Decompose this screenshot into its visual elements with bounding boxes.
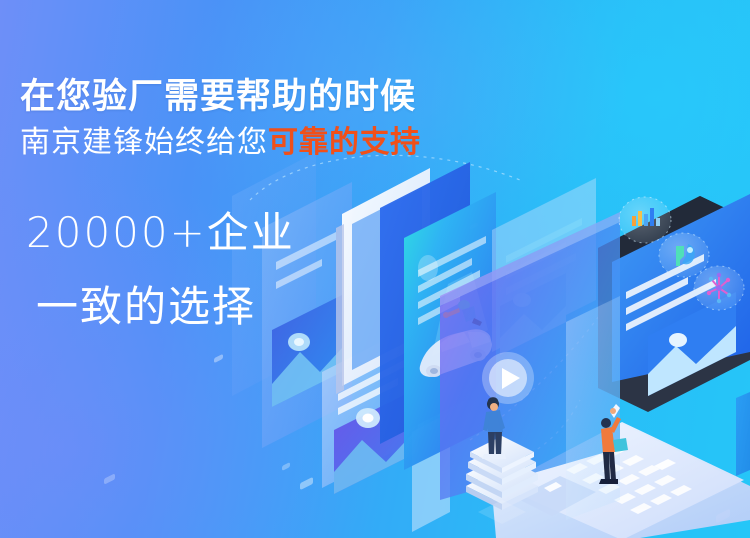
- floating-icon-network: [694, 266, 744, 310]
- subheadline-line-2: 一致的选择: [36, 286, 295, 328]
- headline-block: 在您验厂需要帮助的时候 南京建锋始终给您可靠的支持: [20, 76, 421, 162]
- play-button[interactable]: [482, 352, 534, 404]
- headline-primary: 在您验厂需要帮助的时候: [20, 76, 421, 117]
- headline-secondary-accent: 可靠的支持: [268, 126, 421, 159]
- subheadline-block: 20000+企业 一致的选择: [22, 212, 295, 328]
- headline-secondary: 南京建锋始终给您可靠的支持: [20, 123, 421, 162]
- promo-banner: 在您验厂需要帮助的时候 南京建锋始终给您可靠的支持 20000+企业 一致的选择: [0, 0, 750, 538]
- floating-icon-bar-chart: [619, 197, 671, 243]
- headline-secondary-plain: 南京建锋始终给您: [20, 126, 268, 159]
- floating-icon-hourglass: [659, 233, 709, 277]
- right-edge-panel: [736, 392, 750, 476]
- subheadline-line-1: 20000+企业: [26, 212, 295, 254]
